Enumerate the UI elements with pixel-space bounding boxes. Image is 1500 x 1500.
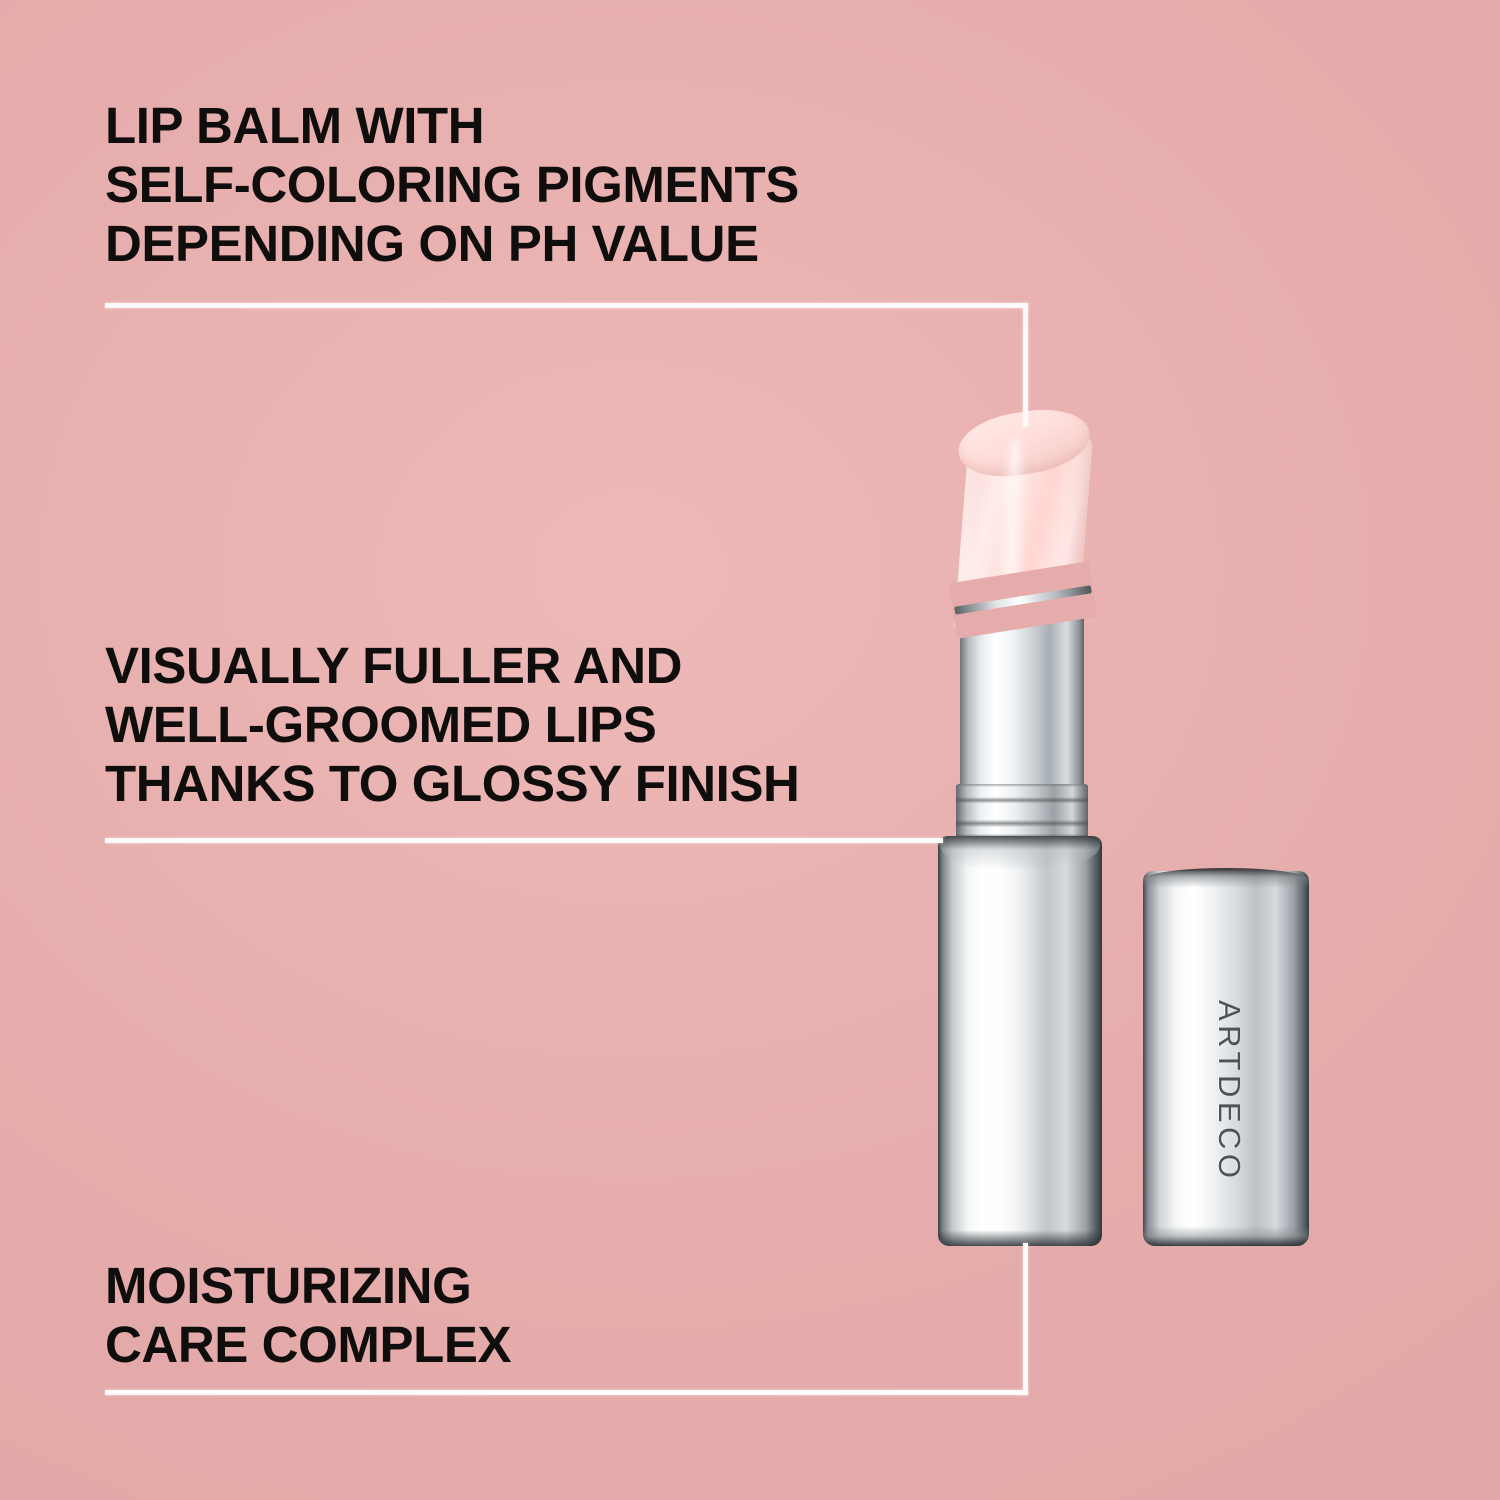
callout-1-line-horizontal <box>105 303 1028 308</box>
tube-base-highlight <box>965 868 1075 1238</box>
tube-ribbed-rings <box>956 784 1088 838</box>
callout-1-line-vertical <box>1023 303 1028 427</box>
tube-base-bottom-rim <box>938 1230 1102 1246</box>
product-cap-highlight <box>1176 886 1210 1234</box>
infographic-canvas: ARTDECO LIP BALM WITH SELF-COLORING PIGM… <box>0 0 1500 1500</box>
product-cap-top-rim <box>1143 868 1309 888</box>
product-cap-bottom-rim <box>1143 1226 1309 1246</box>
brand-logo-artdeco: ARTDECO <box>1214 1000 1245 1200</box>
callout-3-line-horizontal <box>105 1390 1028 1395</box>
callout-3-line-vertical <box>1023 1243 1028 1395</box>
callout-3-text: MOISTURIZING CARE COMPLEX <box>105 1256 511 1374</box>
callout-1-text: LIP BALM WITH SELF-COLORING PIGMENTS DEP… <box>105 96 799 273</box>
callout-2-text: VISUALLY FULLER AND WELL-GROOMED LIPS TH… <box>105 636 800 813</box>
callout-2-line-horizontal <box>105 838 943 843</box>
